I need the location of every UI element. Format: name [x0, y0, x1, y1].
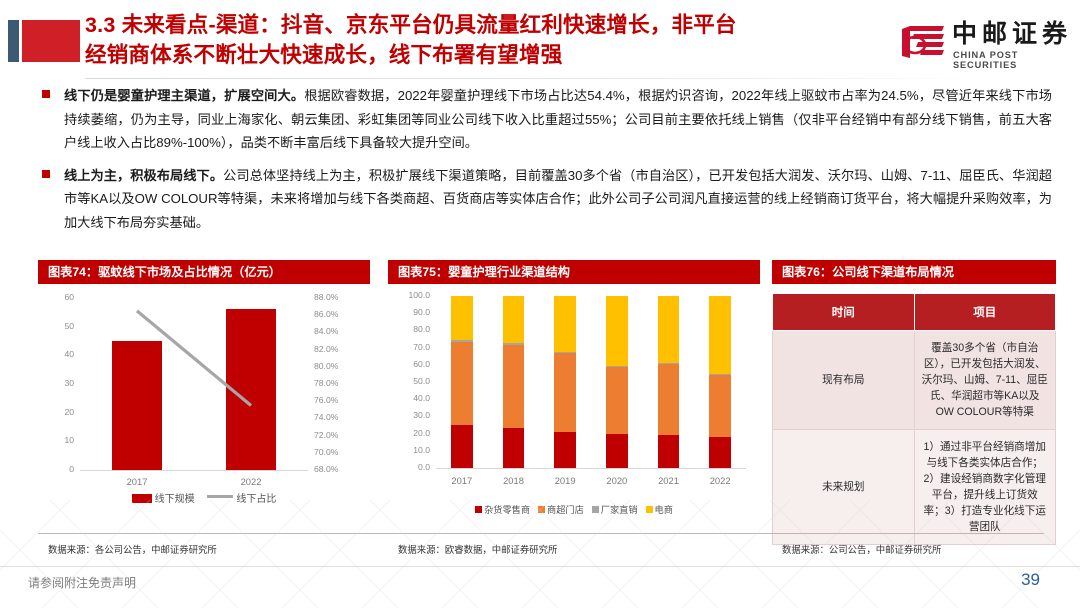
table-cell-item-1: 1）通过非平台经销商增加与线下各类实体店合作；2）建设经销商数字化管理平台，提升… — [914, 430, 1056, 545]
logo-english-name: CHINA POST SECURITIES — [953, 50, 1072, 70]
chart74-xtick-2022: 2022 — [221, 477, 281, 487]
chart74-y2tick-7: 82.0% — [314, 345, 356, 354]
chart75-seg-2022-3 — [709, 296, 731, 374]
legend-swatch-icon — [475, 506, 482, 513]
table-header-time: 时间 — [773, 294, 915, 331]
table-row: 未来规划 1）通过非平台经销商增加与线下各类实体店合作；2）建设经销商数字化管理… — [773, 430, 1056, 545]
chart75-seg-2017-0 — [451, 425, 473, 468]
chart74-y2tick-6: 80.0% — [314, 362, 356, 371]
chart75-legend-label-0: 杂货零售商 — [484, 505, 530, 515]
table-cell-item-0: 覆盖30多个省（市自治区），已开发包括大润发、沃尔玛、山姆、7-11、屈臣氏、华… — [914, 331, 1056, 430]
chart75-seg-2019-1 — [554, 352, 576, 431]
chart74-axis-line — [80, 470, 308, 471]
chart75-seg-2018-0 — [503, 428, 525, 468]
chart74-line-series — [80, 298, 308, 470]
logo-chinese-name: 中邮证券 — [952, 20, 1072, 48]
chart75-seg-2019-2 — [554, 352, 576, 353]
chart-panel-76: 图表76：公司线下渠道布局情况 时间 项目 现有布局 覆盖30多个省（市自治区）… — [772, 260, 1056, 545]
chart75-seg-2017-1 — [451, 342, 473, 425]
chart75-xtick-2022: 2022 — [692, 476, 748, 486]
bullet-marker-icon — [42, 170, 50, 178]
chart75-seg-2020-0 — [606, 434, 628, 468]
bullet-paragraph: 线下仍是婴童护理主渠道，扩展空间大。根据欧睿数据，2022年婴童护理线下市场占比… — [64, 84, 1052, 155]
bullet-lead: 线上为主，积极布局线下。 — [64, 168, 223, 183]
table-cell-time-1: 未来规划 — [773, 430, 915, 545]
chart75-body: 0.010.020.030.040.050.060.070.080.090.01… — [388, 284, 760, 524]
legend-swatch-icon — [646, 506, 653, 513]
offline-channel-table: 时间 项目 现有布局 覆盖30多个省（市自治区），已开发包括大润发、沃尔玛、山姆… — [772, 293, 1056, 545]
chart74-canvas: 010203040506068.0%70.0%72.0%74.0%76.0%78… — [38, 284, 370, 512]
chart74-ytick-1: 10 — [40, 436, 74, 445]
page-title-line2: 经销商体系不断壮大快速成长，线下布署有望增强 — [85, 40, 875, 70]
header-divider — [85, 78, 985, 79]
chart75-legend-item-2: 厂家直销 — [592, 505, 638, 515]
chart75-ytick-9: 90.0 — [392, 308, 430, 317]
chart74-y2tick-5: 78.0% — [314, 379, 356, 388]
bullet-item: 线下仍是婴童护理主渠道，扩展空间大。根据欧睿数据，2022年婴童护理线下市场占比… — [40, 84, 1052, 155]
page-title: 3.3 未来看点-渠道：抖音、京东平台仍具流量红利快速增长，非平台 经销商体系不… — [85, 10, 875, 70]
chart74-legend-label-1: 线下占比 — [236, 494, 276, 505]
chart74-ytick-3: 30 — [40, 379, 74, 388]
chart75-seg-2018-1 — [503, 345, 525, 429]
chart75-ytick-5: 50.0 — [392, 377, 430, 386]
chart75-ytick-10: 100.0 — [392, 291, 430, 300]
chart75-xtick-2019: 2019 — [537, 476, 593, 486]
table-header-item: 项目 — [914, 294, 1056, 331]
chart75-xtick-2017: 2017 — [434, 476, 490, 486]
chart74-y2tick-0: 68.0% — [314, 465, 356, 474]
chart74-legend-label-0: 线下规模 — [155, 494, 195, 505]
chart74-ytick-5: 50 — [40, 322, 74, 331]
slide-header: 3.3 未来看点-渠道：抖音、京东平台仍具流量红利快速增长，非平台 经销商体系不… — [0, 8, 1080, 70]
table76-source: 数据来源：公司公告，中邮证券研究所 — [782, 542, 941, 556]
chart75-xtick-2021: 2021 — [641, 476, 697, 486]
chart74-source: 数据来源：各公司公告，中邮证券研究所 — [48, 542, 217, 556]
chart75-ytick-1: 10.0 — [392, 446, 430, 455]
bullet-item: 线上为主，积极布局线下。公司总体坚持线上为主，积极扩展线下渠道策略，目前覆盖30… — [40, 164, 1052, 235]
chart74-ytick-2: 20 — [40, 408, 74, 417]
chart75-legend: 杂货零售商商超门店厂家直销电商 — [388, 502, 760, 516]
chart74-plot-area: 010203040506068.0%70.0%72.0%74.0%76.0%78… — [80, 298, 308, 470]
chart75-ytick-2: 20.0 — [392, 429, 430, 438]
chart74-legend-item-bar: 线下规模 — [132, 494, 195, 505]
chart75-seg-2020-3 — [606, 296, 628, 366]
chart74-ytick-4: 40 — [40, 350, 74, 359]
chart74-title: 图表74：驱蚊线下市场及占比情况（亿元） — [38, 260, 370, 284]
chart74-xtick-2017: 2017 — [107, 477, 167, 487]
chart75-ytick-0: 0.0 — [392, 463, 430, 472]
chart75-seg-2021-0 — [658, 435, 680, 468]
chart74-ytick-6: 60 — [40, 293, 74, 302]
chart75-legend-item-0: 杂货零售商 — [475, 505, 530, 515]
chart75-ytick-7: 70.0 — [392, 343, 430, 352]
chart75-title: 图表75：婴童护理行业渠道结构 — [388, 260, 760, 284]
legend-swatch-icon — [132, 494, 152, 503]
source-divider — [38, 533, 1044, 534]
bullet-paragraph: 线上为主，积极布局线下。公司总体坚持线上为主，积极扩展线下渠道策略，目前覆盖30… — [64, 164, 1052, 235]
chart75-seg-2018-3 — [503, 296, 525, 343]
chart75-seg-2019-3 — [554, 296, 576, 352]
chart75-seg-2017-3 — [451, 296, 473, 340]
bullet-lead: 线下仍是婴童护理主渠道，扩展空间大。 — [64, 88, 304, 103]
chart74-body: 010203040506068.0%70.0%72.0%74.0%76.0%78… — [38, 284, 370, 512]
chart74-legend: 线下规模 线下占比 — [38, 490, 370, 505]
table-header-row: 时间 项目 — [773, 294, 1056, 331]
chart75-legend-label-3: 电商 — [655, 505, 673, 515]
chart75-legend-item-1: 商超门店 — [538, 505, 584, 515]
body-bullets: 线下仍是婴童护理主渠道，扩展空间大。根据欧睿数据，2022年婴童护理线下市场占比… — [40, 84, 1052, 243]
chart75-seg-2017-2 — [451, 340, 473, 342]
legend-swatch-icon — [592, 506, 599, 513]
chart75-axis-line — [436, 468, 746, 469]
chart74-y2tick-9: 86.0% — [314, 310, 356, 319]
chart75-seg-2022-0 — [709, 437, 731, 468]
chart75-xtick-2018: 2018 — [486, 476, 542, 486]
chart74-y2tick-10: 88.0% — [314, 293, 356, 302]
legend-line-icon — [207, 495, 233, 498]
page-title-line1: 3.3 未来看点-渠道：抖音、京东平台仍具流量红利快速增长，非平台 — [85, 13, 737, 37]
chart74-y2tick-2: 72.0% — [314, 431, 356, 440]
legend-swatch-icon — [538, 506, 545, 513]
chart75-legend-label-2: 厂家直销 — [601, 505, 638, 515]
company-logo: 中邮证券 CHINA POST SECURITIES — [896, 16, 1072, 68]
footer-disclaimer: 请参阅附注免责声明 — [28, 574, 136, 591]
chart75-seg-2021-1 — [658, 364, 680, 435]
table-row: 现有布局 覆盖30多个省（市自治区），已开发包括大润发、沃尔玛、山姆、7-11、… — [773, 331, 1056, 430]
bullet-marker-icon — [42, 90, 50, 98]
header-red-accent — [22, 20, 80, 62]
chart75-seg-2020-1 — [606, 366, 628, 434]
footer-divider — [0, 566, 1080, 567]
table76-title: 图表76：公司线下渠道布局情况 — [772, 260, 1056, 284]
chart75-ytick-8: 80.0 — [392, 325, 430, 334]
chart74-y2tick-3: 74.0% — [314, 413, 356, 422]
chart75-canvas: 0.010.020.030.040.050.060.070.080.090.01… — [388, 284, 760, 524]
header-blue-accent — [8, 20, 19, 62]
chart75-ytick-6: 60.0 — [392, 360, 430, 369]
chart74-y2tick-4: 76.0% — [314, 396, 356, 405]
slide: 3.3 未来看点-渠道：抖音、京东平台仍具流量红利快速增长，非平台 经销商体系不… — [0, 0, 1080, 608]
china-post-logo-icon — [900, 23, 946, 61]
chart75-seg-2022-1 — [709, 375, 731, 437]
chart75-source: 数据来源：欧睿数据，中邮证券研究所 — [398, 542, 557, 556]
chart75-seg-2018-2 — [503, 343, 525, 344]
chart74-ytick-0: 0 — [40, 465, 74, 474]
chart75-xtick-2020: 2020 — [589, 476, 645, 486]
chart75-seg-2019-0 — [554, 432, 576, 468]
chart75-plot-area: 0.010.020.030.040.050.060.070.080.090.01… — [436, 296, 746, 468]
chart75-ytick-3: 30.0 — [392, 411, 430, 420]
chart74-y2tick-1: 70.0% — [314, 448, 356, 457]
chart75-seg-2021-3 — [658, 296, 680, 363]
chart-panel-74: 图表74：驱蚊线下市场及占比情况（亿元） 010203040506068.0%7… — [38, 260, 370, 512]
table-cell-time-0: 现有布局 — [773, 331, 915, 430]
page-number: 39 — [1021, 570, 1040, 590]
chart74-y2tick-8: 84.0% — [314, 327, 356, 336]
chart-panel-75: 图表75：婴童护理行业渠道结构 0.010.020.030.040.050.06… — [388, 260, 760, 524]
chart75-legend-item-3: 电商 — [646, 505, 673, 515]
chart75-ytick-4: 40.0 — [392, 394, 430, 403]
chart75-legend-label-1: 商超门店 — [547, 505, 584, 515]
chart74-legend-item-line: 线下占比 — [207, 494, 276, 505]
